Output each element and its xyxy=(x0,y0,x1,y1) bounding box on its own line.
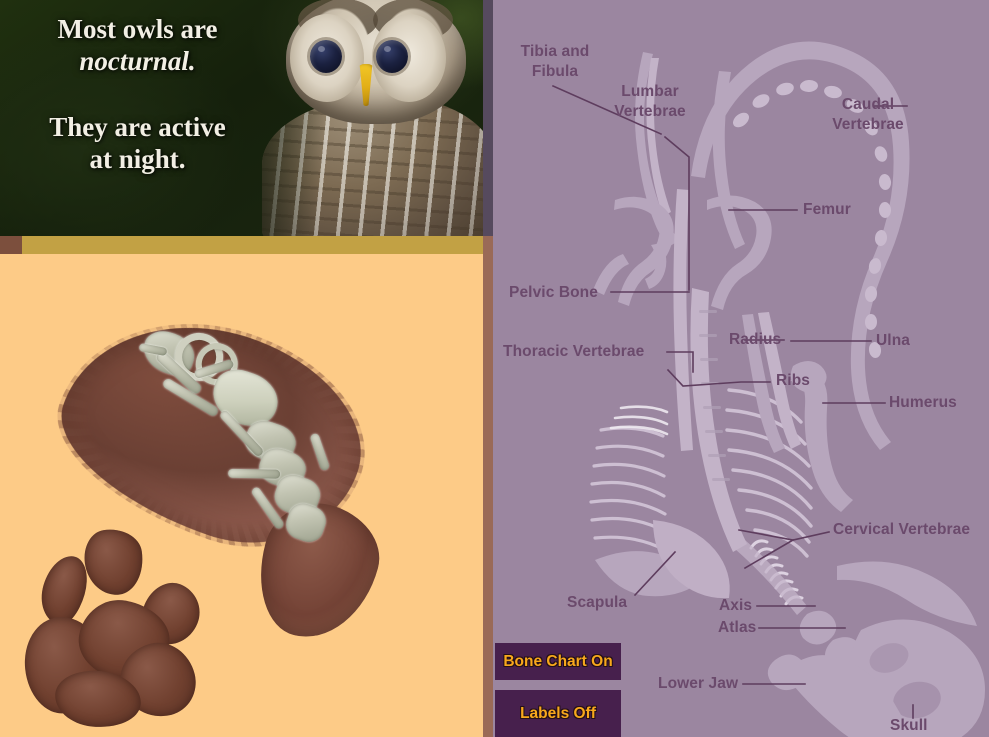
label-ribs: Ribs xyxy=(776,372,810,390)
label-cervical-vertebrae: Cervical Vertebrae xyxy=(833,521,970,539)
label-tibia-and-fibula: Tibia and Fibula xyxy=(505,42,605,82)
bone-femur-left xyxy=(614,197,674,306)
owl-eye-right xyxy=(376,40,408,73)
label-humerus: Humerus xyxy=(889,394,957,412)
label-lumbar-vertebrae-line1: Lumbar xyxy=(595,82,705,102)
label-atlas: Atlas xyxy=(718,619,756,637)
label-scapula: Scapula xyxy=(567,594,627,612)
bone-femur-right xyxy=(707,195,772,310)
pellet-bone-splinter-4 xyxy=(228,469,280,479)
bone-zygomatic-arch xyxy=(837,562,977,627)
owl-pellet-panel xyxy=(0,254,483,737)
panel-divider-bottom xyxy=(483,236,493,737)
label-lower-jaw: Lower Jaw xyxy=(658,675,738,693)
app-stage: Most owls are nocturnal. They are active… xyxy=(0,0,989,737)
owl-caption-line-3: They are active xyxy=(49,112,225,144)
bone-vertebral-column-left xyxy=(673,189,693,451)
label-lumbar-vertebrae-line2: Vertebrae xyxy=(595,102,705,122)
gold-divider-bar-cap xyxy=(0,236,22,254)
label-pelvic-bone: Pelvic Bone xyxy=(509,284,598,302)
panel-divider-top xyxy=(483,0,493,236)
bone-thoracic-vertebral-column xyxy=(690,288,747,552)
bone-chart-panel: Tibia and Fibula Lumbar Vertebrae Caudal… xyxy=(493,0,989,737)
label-ulna: Ulna xyxy=(876,332,910,350)
label-radius: Radius xyxy=(729,331,781,349)
owl-caption-line-4: at night. xyxy=(89,144,185,176)
owl-eye-left xyxy=(310,40,342,73)
label-tibia-and-fibula-line2: Fibula xyxy=(505,62,605,82)
label-axis: Axis xyxy=(719,597,752,615)
label-caudal-vertebrae: Caudal Vertebrae xyxy=(813,95,923,135)
owl-photo-panel: Most owls are nocturnal. They are active… xyxy=(0,0,483,236)
owl-caption-line-2: nocturnal. xyxy=(79,46,195,78)
label-lumbar-vertebrae: Lumbar Vertebrae xyxy=(595,82,705,122)
pellet-fur-fragments xyxy=(25,529,225,729)
labels-off-button-label: Labels Off xyxy=(520,705,596,723)
label-femur: Femur xyxy=(803,201,851,219)
barred-owl-image xyxy=(268,0,483,236)
leader-cervical xyxy=(739,530,829,540)
label-thoracic-vertebrae: Thoracic Vertebrae xyxy=(503,343,644,361)
label-skull: Skull xyxy=(890,717,928,735)
bone-chart-on-button-label: Bone Chart On xyxy=(503,653,612,671)
left-column: Most owls are nocturnal. They are active… xyxy=(0,0,483,737)
owl-caption-line-1: Most owls are xyxy=(58,14,218,46)
label-tibia-and-fibula-line1: Tibia and xyxy=(505,42,605,62)
label-caudal-vertebrae-line2: Vertebrae xyxy=(813,115,923,135)
label-caudal-vertebrae-line1: Caudal xyxy=(813,95,923,115)
fur-fragment-1 xyxy=(81,525,148,598)
bone-chart-on-button[interactable]: Bone Chart On xyxy=(495,643,621,680)
gold-divider-bar xyxy=(0,236,483,254)
labels-off-button[interactable]: Labels Off xyxy=(495,690,621,737)
pellet-bone-splinter-7 xyxy=(309,432,330,471)
owl-caption: Most owls are nocturnal. They are active… xyxy=(0,0,275,236)
